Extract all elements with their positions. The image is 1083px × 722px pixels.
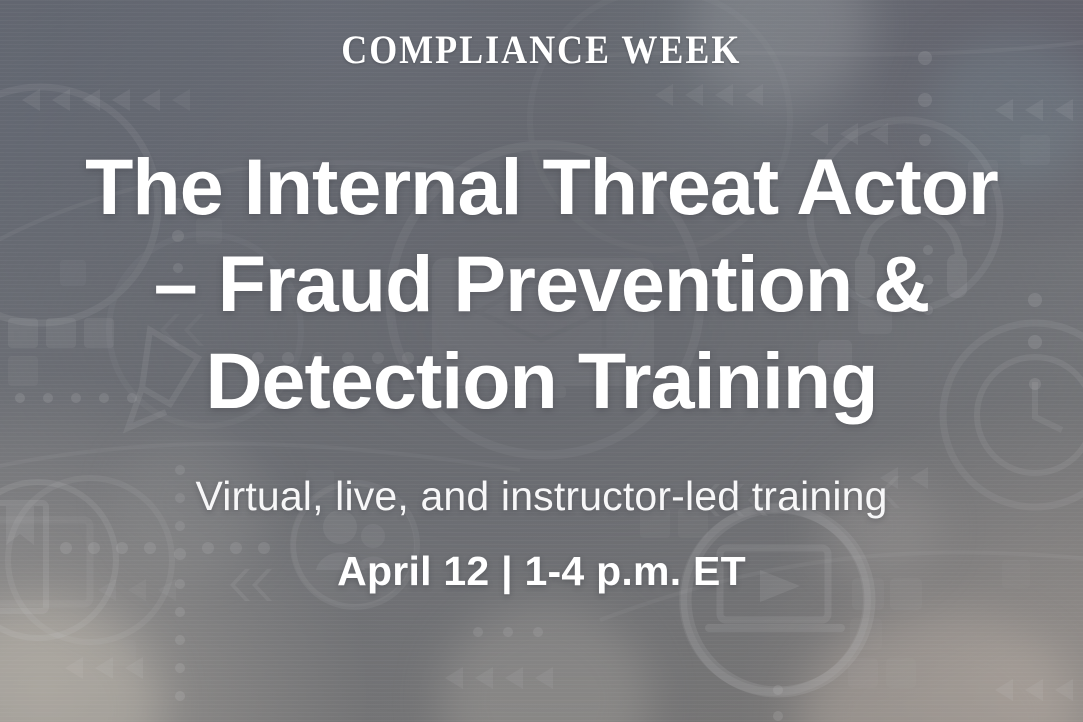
headline-line-3: Detection Training [17,332,1067,429]
page-title: The Internal Threat Actor – Fraud Preven… [17,138,1067,429]
event-datetime: April 12 | 1-4 p.m. ET [337,548,746,595]
banner-content: COMPLIANCE WEEK The Internal Threat Acto… [0,0,1083,722]
promo-banner: COMPLIANCE WEEK The Internal Threat Acto… [0,0,1083,722]
headline-line-1: The Internal Threat Actor [17,138,1067,235]
compliance-week-logo: COMPLIANCE WEEK [341,30,741,70]
headline-line-2: – Fraud Prevention & [17,235,1067,332]
event-format-subtitle: Virtual, live, and instructor-led traini… [195,473,887,520]
